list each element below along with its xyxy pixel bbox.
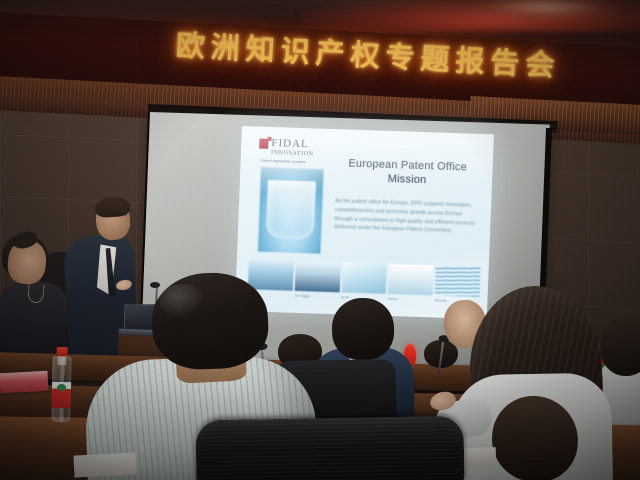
attendee-navy-head (331, 297, 395, 361)
projected-slide: FIDAL INNOVATION Patent application proc… (235, 126, 494, 319)
bottle-label-1 (52, 382, 71, 408)
building-photo-vienna (388, 264, 434, 295)
fidal-logo: FIDAL INNOVATION (259, 138, 314, 158)
building-caption-3: Vienna (388, 297, 433, 304)
podium-microphone-icon (150, 282, 160, 288)
fidal-brand-name: FIDAL (271, 138, 314, 150)
slide-photo-caption: Patent application process (261, 159, 323, 165)
ceiling-light-fixture (470, 0, 620, 18)
building-photo-munich (248, 259, 294, 290)
slide-title: European Patent Office Mission (332, 156, 483, 189)
bottle-neck-1 (57, 356, 66, 365)
building-caption-1: The Hague (294, 294, 339, 301)
water-bottle-1 (51, 356, 71, 422)
attendee-right-edge-hair (600, 318, 640, 376)
fidal-tagline: INNOVATION (271, 150, 314, 157)
slide-hero-photo (257, 167, 324, 255)
presenter-glasses-icon (101, 214, 127, 223)
handout-paper-1 (73, 452, 136, 477)
building-photo-the-hague (295, 261, 341, 292)
fidal-mark-icon (259, 139, 268, 149)
conference-hall-photo: 欧洲知识产权专题报告会 FIDAL INNOVATION Patent appl… (0, 0, 640, 480)
chair-back-foreground (195, 416, 464, 480)
slide-building-photos (248, 259, 481, 297)
attendee-striped-shirt-head (150, 271, 269, 371)
red-folder (0, 371, 48, 393)
building-photo-berlin (341, 262, 387, 293)
building-photo-brussels (435, 266, 481, 297)
slide-body-text: As the patent office for Europe, EPO sup… (334, 197, 479, 237)
